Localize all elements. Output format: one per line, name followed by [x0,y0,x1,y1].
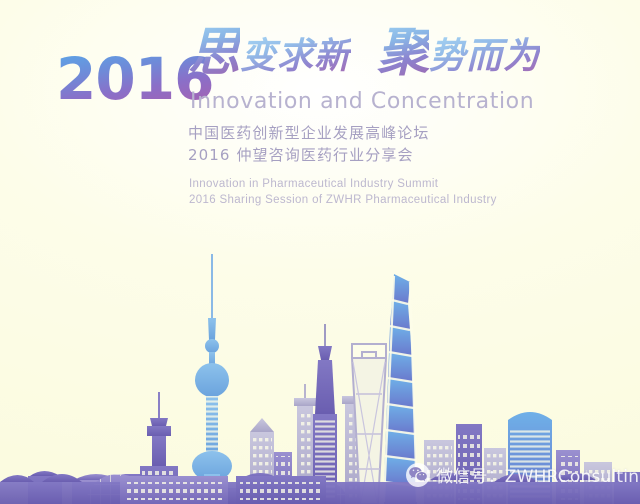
shanghai-skyline-illustration [0,244,640,504]
shanghai-tower [384,274,417,504]
headline-char-ju: 聚 [377,23,429,83]
headline-phrase-bianqiuxin: 变求新 [240,36,351,77]
headline-phrase-shierwei: 势而为 [429,36,540,77]
chinese-line-1: 中国医药创新型企业发展高峰论坛 [188,122,430,144]
poster-canvas: 2016 思变求新聚势而为 Innovation and Concentrati… [0,0,640,504]
headline-char-si: 思 [188,23,240,83]
headline-slogan: 思变求新聚势而为 [188,27,540,79]
english-event-lines: Innovation in Pharmaceutical Industry Su… [189,176,497,208]
english-line-2: 2016 Sharing Session of ZWHR Pharmaceuti… [189,192,497,208]
oriental-pearl-tower [188,254,236,504]
chinese-event-lines: 中国医药创新型企业发展高峰论坛 2016 仲望咨询医药行业分享会 [188,122,430,166]
english-line-1: Innovation in Pharmaceutical Industry Su… [189,176,497,192]
poster-header: 2016 思变求新聚势而为 Innovation and Concentrati… [0,0,640,225]
headline-subtitle-english: Innovation and Concentration [190,89,534,114]
chinese-line-2: 2016 仲望咨询医药行业分享会 [188,144,430,166]
